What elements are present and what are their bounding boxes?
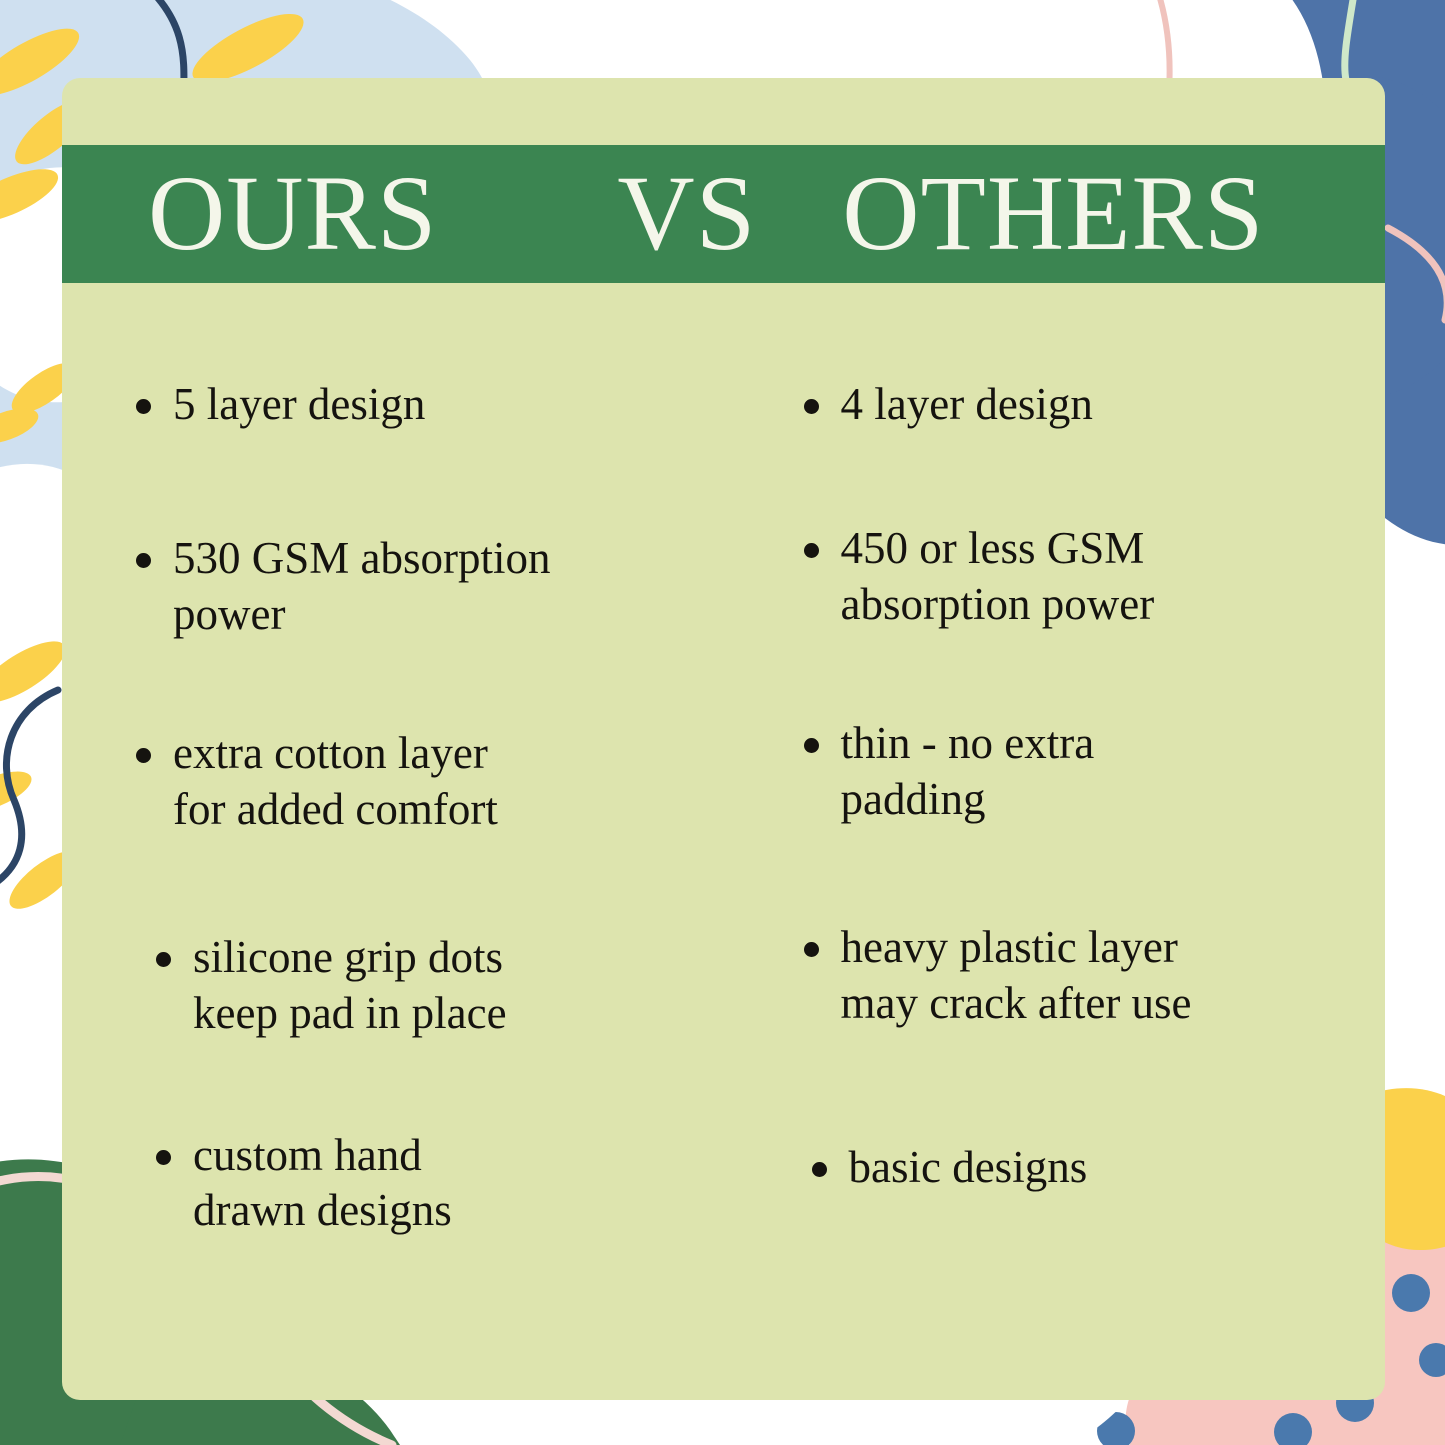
bullet-dot-icon xyxy=(136,553,151,568)
list-item-label: 5 layer design xyxy=(173,377,425,433)
list-item-label: thin - no extra padding xyxy=(841,716,1095,828)
list-item-label: basic designs xyxy=(849,1140,1088,1196)
list-item: 530 GSM absorption power xyxy=(136,531,702,643)
bullet-dot-icon xyxy=(804,942,819,957)
list-item-label: heavy plastic layer may crack after use xyxy=(841,920,1192,1032)
list-item: heavy plastic layer may crack after use xyxy=(804,920,1366,1032)
bullet-dot-icon xyxy=(136,748,151,763)
list-item-label: extra cotton layer for added comfort xyxy=(173,726,498,838)
bullet-dot-icon xyxy=(136,399,151,414)
header-title-vs: VS xyxy=(617,161,756,268)
comparison-card: OURS VS OTHERS 5 layer design 530 GSM ab… xyxy=(62,78,1385,1400)
bullet-dot-icon xyxy=(812,1162,827,1177)
header-title-ours: OURS xyxy=(148,161,437,268)
header-banner: OURS VS OTHERS xyxy=(62,145,1385,283)
list-item: 5 layer design xyxy=(136,377,702,433)
list-item-label: 4 layer design xyxy=(841,377,1093,433)
list-item: silicone grip dots keep pad in place xyxy=(156,930,702,1042)
list-item-label: 450 or less GSM absorption power xyxy=(841,521,1155,633)
bullet-dot-icon xyxy=(804,738,819,753)
list-item: 4 layer design xyxy=(804,377,1366,433)
column-ours: 5 layer design 530 GSM absorption power … xyxy=(62,283,724,1400)
list-item-label: silicone grip dots keep pad in place xyxy=(193,930,507,1042)
comparison-poster: OURS VS OTHERS 5 layer design 530 GSM ab… xyxy=(0,0,1445,1445)
list-item: custom hand drawn designs xyxy=(156,1128,702,1240)
list-item: 450 or less GSM absorption power xyxy=(804,521,1366,633)
blue-dot xyxy=(1392,1274,1430,1312)
header-title-others: OTHERS xyxy=(842,161,1264,268)
list-item-label: 530 GSM absorption power xyxy=(173,531,551,643)
bullet-dot-icon xyxy=(804,543,819,558)
bullet-dot-icon xyxy=(156,1150,171,1165)
list-item-label: custom hand drawn designs xyxy=(193,1128,452,1240)
list-item: basic designs xyxy=(812,1140,1366,1196)
list-item: extra cotton layer for added comfort xyxy=(136,726,702,838)
comparison-body: 5 layer design 530 GSM absorption power … xyxy=(62,283,1385,1400)
list-item: thin - no extra padding xyxy=(804,716,1366,828)
column-others: 4 layer design 450 or less GSM absorptio… xyxy=(724,283,1386,1400)
bullet-dot-icon xyxy=(804,399,819,414)
bullet-dot-icon xyxy=(156,952,171,967)
